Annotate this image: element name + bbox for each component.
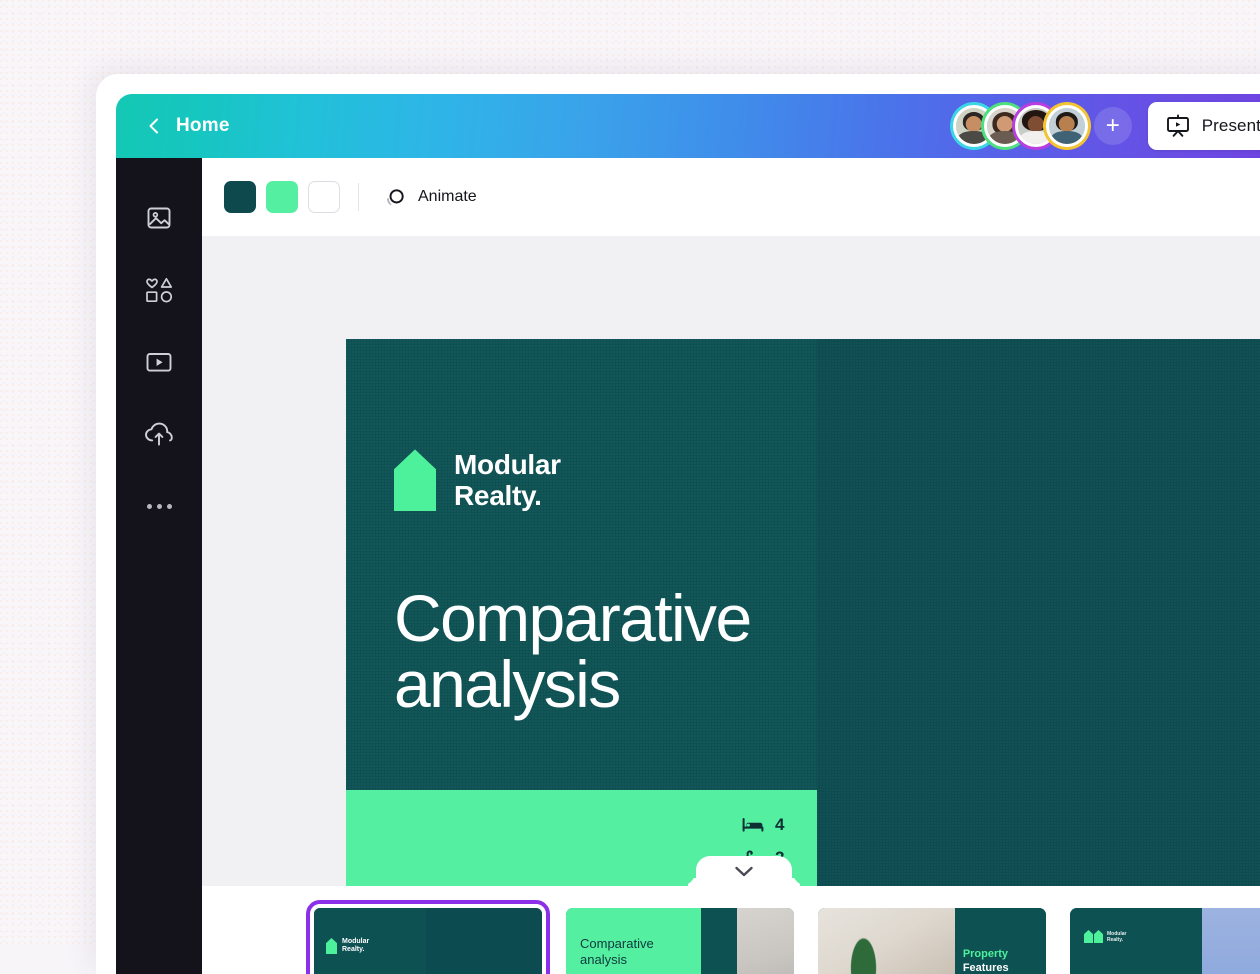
logo-line-1: Modular [454, 449, 561, 480]
chevron-down-icon [733, 864, 755, 878]
thumb-logo-line-1: Modular [342, 938, 369, 946]
house-icon [1094, 930, 1103, 943]
presentation-screen-icon [1165, 114, 1191, 138]
thumb-logo-text: Modular Realty. [342, 938, 369, 954]
chevron-left-icon [144, 116, 164, 136]
back-button[interactable] [140, 112, 168, 140]
app-header: Home [116, 94, 1260, 158]
slide-right-panel [817, 339, 1260, 886]
slide-filmstrip[interactable]: Modular Realty. Comparative analysis Pro… [202, 886, 1260, 974]
left-sidebar [116, 158, 202, 974]
thumb-logo: Modular Realty. [326, 938, 369, 954]
slide-thumbnail-1[interactable]: Modular Realty. [314, 908, 542, 974]
sidebar-item-images[interactable] [116, 182, 202, 254]
more-dots-icon [157, 504, 162, 509]
thumb-photo [818, 908, 955, 974]
slide-logo[interactable]: Modular Realty. [394, 449, 561, 512]
thumb-photo [1202, 908, 1260, 974]
thumb-photo [737, 908, 794, 974]
cloud-upload-icon [143, 420, 175, 448]
color-swatch-green[interactable] [266, 181, 298, 213]
thumb-panel-dark [701, 908, 737, 974]
logo-line-2: Realty. [454, 480, 561, 511]
slide-thumbnail-2[interactable]: Comparative analysis [566, 908, 794, 974]
active-slide[interactable]: Modular Realty. Comparative analysis 4 [346, 339, 1260, 886]
slide-logo-text: Modular Realty. [454, 449, 561, 512]
stat-bedrooms: 4 [742, 815, 785, 835]
slide-canvas-area[interactable]: Modular Realty. Comparative analysis 4 [202, 236, 1260, 886]
thumb-panel-right [426, 908, 542, 974]
thumb-logo-line-1: Modular [1107, 931, 1126, 937]
thumb-logo-line-2: Realty. [342, 946, 369, 954]
sidebar-item-uploads[interactable] [116, 398, 202, 470]
collaborator-avatars [953, 105, 1088, 147]
add-collaborator-button[interactable]: + [1094, 107, 1132, 145]
collapse-filmstrip-button[interactable] [696, 856, 792, 886]
more-dots-icon [167, 504, 172, 509]
more-dots-icon [147, 504, 152, 509]
thumb-logo: Modular Realty. [1084, 930, 1126, 943]
slide-title[interactable]: Comparative analysis [394, 585, 751, 717]
animate-button[interactable]: Animate [375, 179, 485, 215]
page-title: Home [176, 115, 230, 137]
thumb-title-line-1: Comparative [580, 936, 654, 952]
stat-bedrooms-value: 4 [775, 815, 785, 835]
editor-toolbar: Animate [202, 158, 1260, 236]
shapes-icon [142, 274, 176, 306]
app-window: Home [96, 74, 1260, 974]
slide-thumbnail-4[interactable]: Modular Realty. [1070, 908, 1260, 974]
thumb-logo-text: Modular Realty. [1107, 931, 1126, 943]
house-icon [394, 449, 436, 511]
animate-circle-icon [383, 185, 407, 209]
header-actions: + Present [953, 102, 1260, 150]
slide-thumbnail-3[interactable]: Property Features [818, 908, 1046, 974]
bed-icon [742, 816, 764, 834]
color-swatch-dark-teal[interactable] [224, 181, 256, 213]
house-icon [326, 938, 337, 954]
thumb-title: Comparative analysis [580, 936, 654, 969]
present-label: Present [1202, 116, 1260, 136]
present-button[interactable]: Present [1148, 102, 1260, 150]
thumb-label-line-1: Property [963, 948, 1040, 960]
sidebar-item-elements[interactable] [116, 254, 202, 326]
toolbar-divider [358, 183, 359, 211]
thumb-logo-line-2: Realty. [1107, 937, 1126, 943]
slide-title-line-1: Comparative [394, 585, 751, 651]
house-icon [1084, 930, 1093, 943]
thumb-plant-decor [843, 936, 884, 974]
thumb-title-line-2: analysis [580, 952, 654, 968]
avatar-image [1049, 108, 1085, 144]
avatar[interactable] [1046, 105, 1088, 147]
color-swatch-white[interactable] [308, 181, 340, 213]
sidebar-item-more[interactable] [116, 470, 202, 542]
sidebar-item-video[interactable] [116, 326, 202, 398]
thumb-label-line-2: Features [963, 962, 1040, 974]
image-icon [144, 203, 174, 233]
video-play-icon [144, 349, 174, 375]
slide-title-line-2: analysis [394, 651, 751, 717]
animate-label: Animate [418, 188, 477, 206]
